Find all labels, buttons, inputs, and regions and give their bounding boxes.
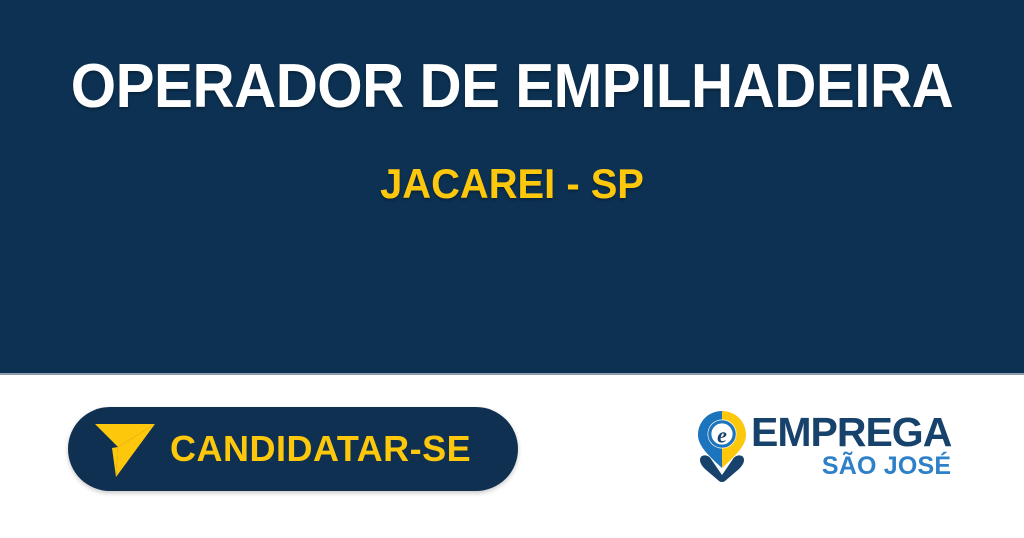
hero-banner: OPERADOR DE EMPILHADEIRA JACAREI - SP (0, 0, 1024, 375)
brand-logo[interactable]: e EMPREGA SÃO JOSÉ (695, 406, 951, 486)
apply-button[interactable]: CANDIDATAR-SE (68, 407, 518, 491)
job-title: OPERADOR DE EMPILHADEIRA (31, 56, 994, 118)
brand-name-primary: EMPREGA (751, 413, 951, 452)
footer-bar: CANDIDATAR-SE e EMPREGA SÃO JOSÉ (0, 375, 1024, 536)
svg-text:e: e (717, 423, 727, 448)
map-pin-e-icon: e (695, 410, 749, 482)
job-location: JACAREI - SP (26, 163, 999, 205)
apply-button-label: CANDIDATAR-SE (170, 431, 471, 467)
send-plane-icon (94, 420, 156, 478)
job-vacancy-poster: OPERADOR DE EMPILHADEIRA JACAREI - SP CA… (0, 0, 1024, 538)
brand-name-secondary: SÃO JOSÉ (822, 454, 951, 479)
brand-wordmark: EMPREGA SÃO JOSÉ (751, 413, 951, 478)
